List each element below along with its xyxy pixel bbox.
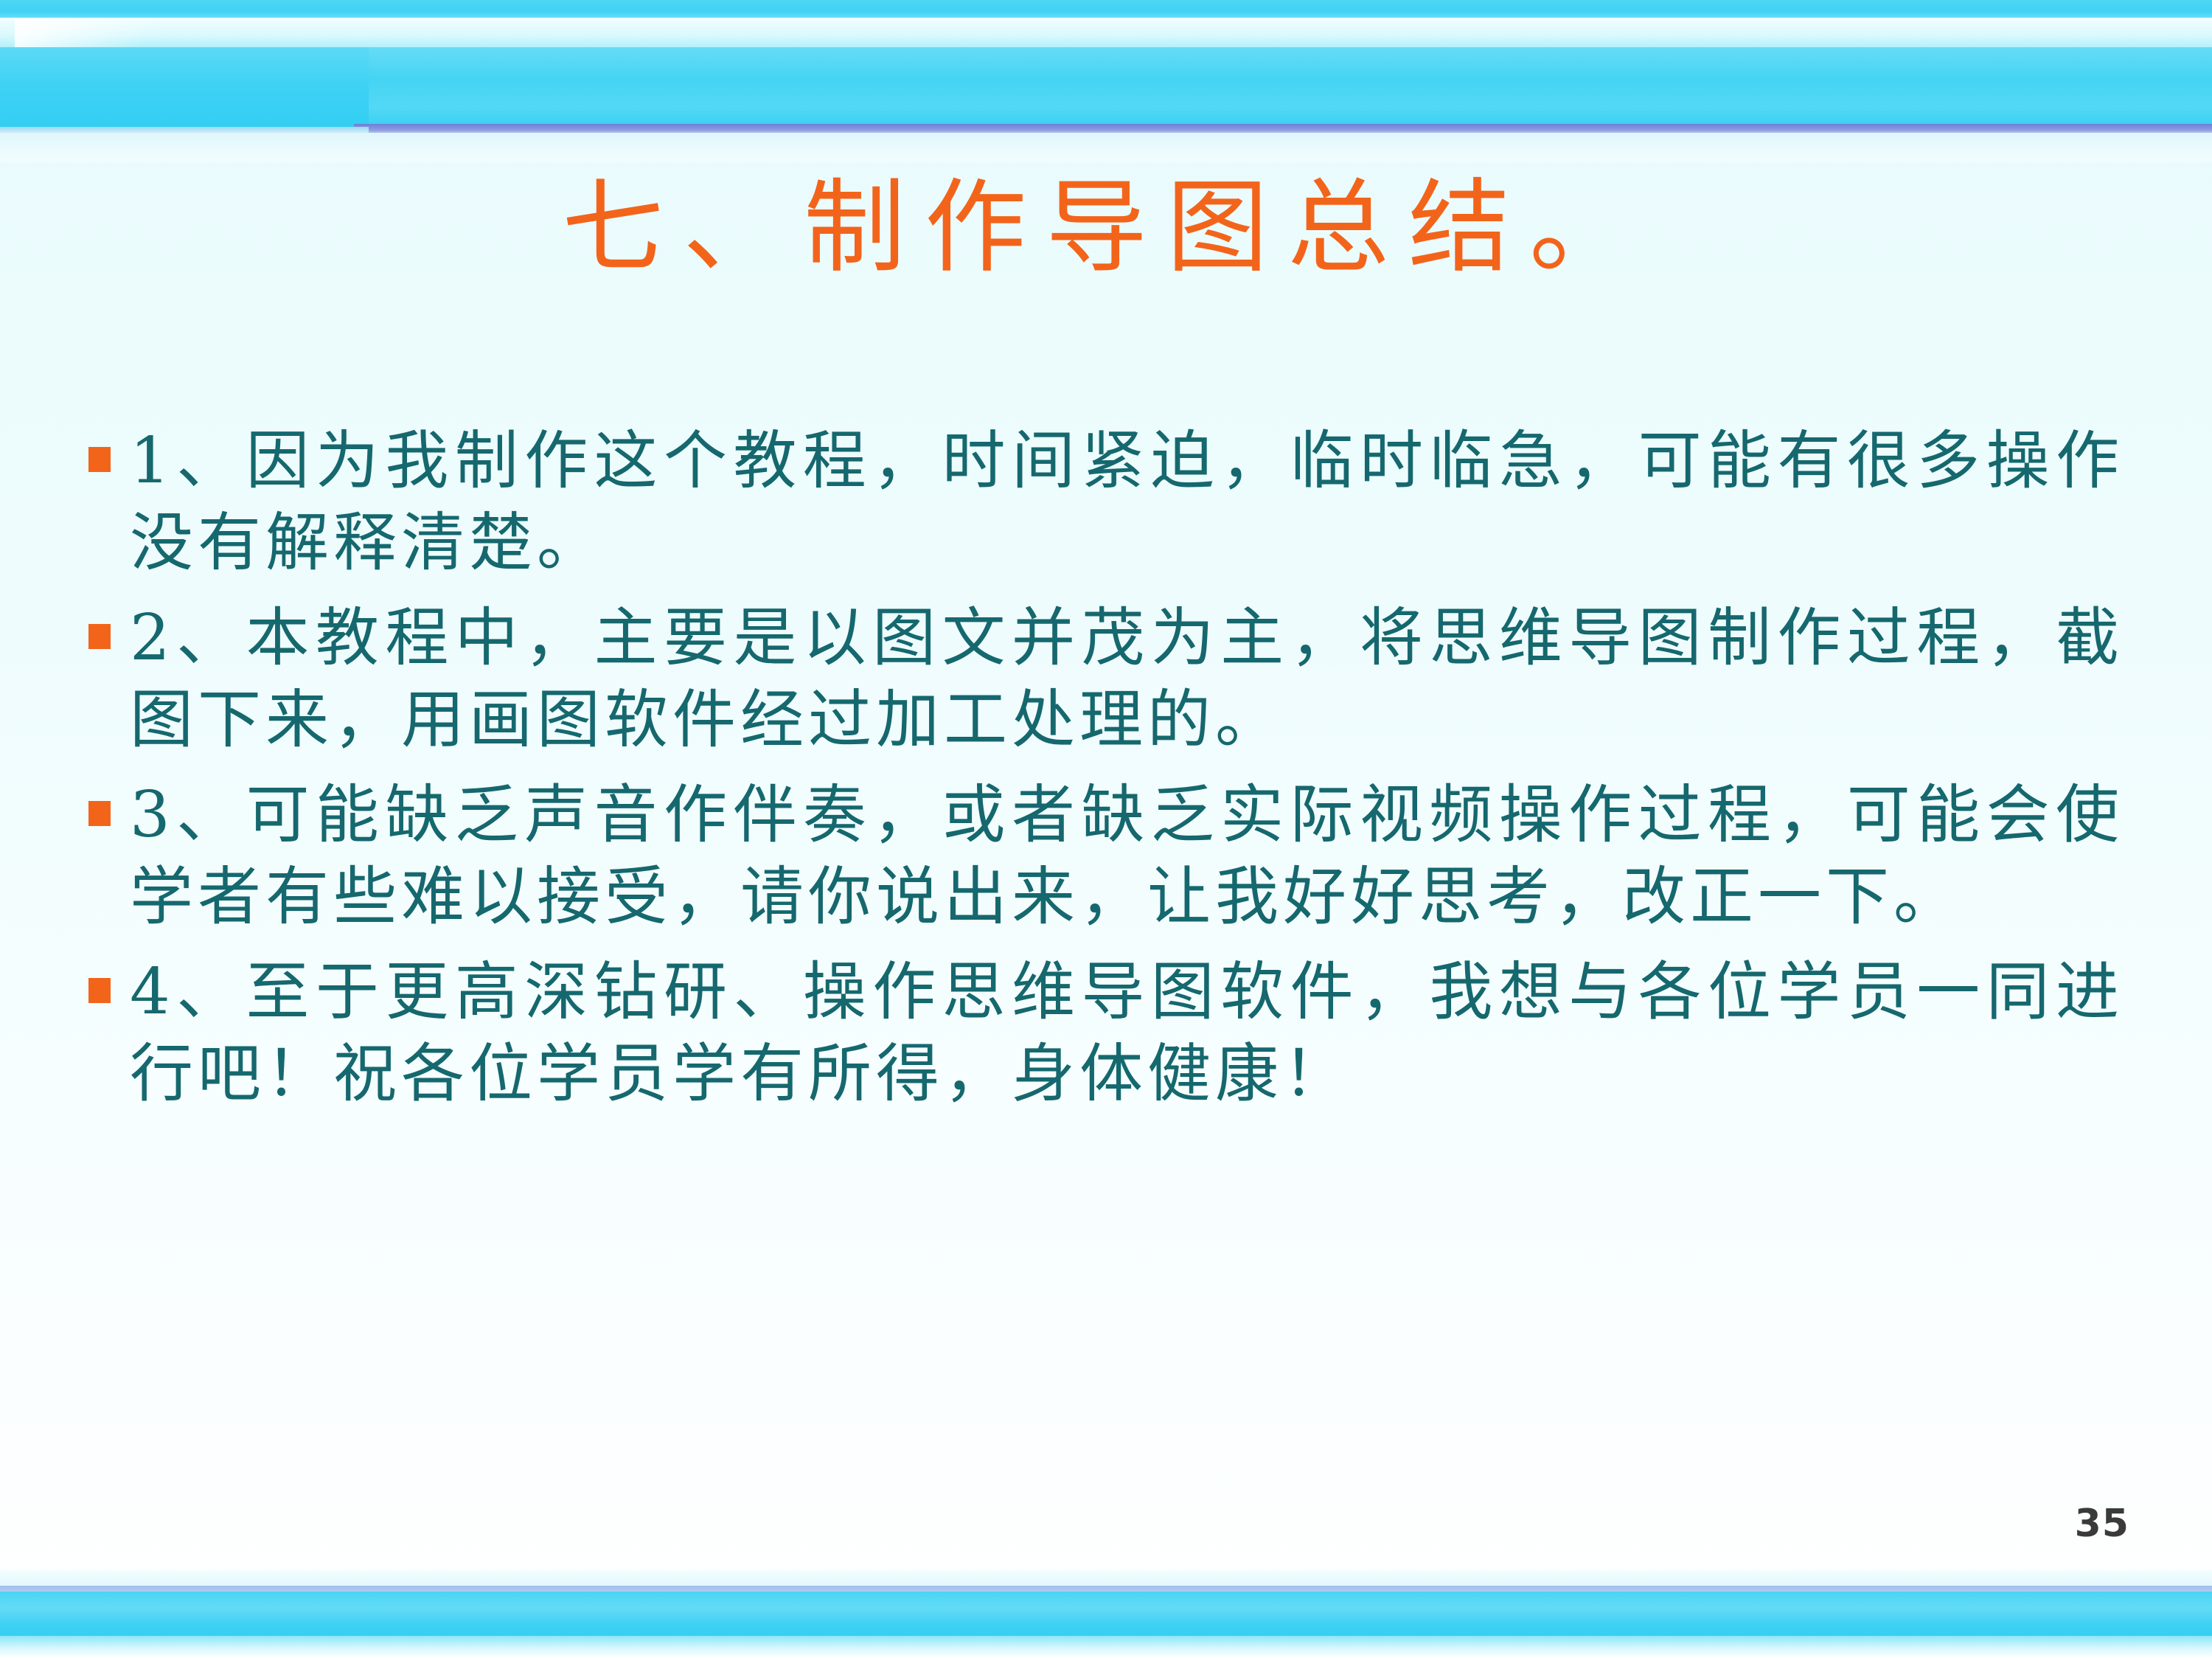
- square-bullet-icon: [88, 978, 111, 1003]
- top-banner-strip: [0, 0, 2212, 19]
- square-bullet-icon: [88, 624, 111, 649]
- bottom-banner-body: [0, 1592, 2212, 1639]
- page-number: 35: [2075, 1502, 2129, 1546]
- bullet-text-2: 2、本教程中，主要是以图文并茂为主，将思维导图制作过程，截图下来，用画图软件经过…: [130, 597, 2124, 761]
- slide-title: 七、制作导图总结。: [0, 168, 2212, 288]
- list-item: 1、因为我制作这个教程，时间紧迫，临时临急，可能有很多操作没有解释清楚。: [88, 420, 2124, 584]
- bullet-text-4: 4、至于更高深钻研、操作思维导图软件，我想与各位学员一同进行吧！祝各位学员学有所…: [130, 951, 2124, 1115]
- square-bullet-icon: [88, 801, 111, 826]
- bottom-banner-lower: [0, 1636, 2212, 1658]
- top-banner-highlight-band: [0, 18, 2212, 50]
- list-item: 2、本教程中，主要是以图文并茂为主，将思维导图制作过程，截图下来，用画图软件经过…: [88, 597, 2124, 761]
- top-banner-fade: [0, 133, 2212, 162]
- list-item: 4、至于更高深钻研、操作思维导图软件，我想与各位学员一同进行吧！祝各位学员学有所…: [88, 951, 2124, 1115]
- bullet-text-1: 1、因为我制作这个教程，时间紧迫，临时临急，可能有很多操作没有解释清楚。: [130, 420, 2124, 584]
- square-bullet-icon: [88, 447, 111, 472]
- top-banner-left-block: [0, 47, 369, 130]
- top-banner: [0, 0, 2212, 148]
- bottom-banner: [0, 1569, 2212, 1658]
- list-item: 3、可能缺乏声音作伴奏，或者缺乏实际视频操作过程，可能会使学者有些难以接受，请你…: [88, 774, 2124, 938]
- bullet-list: 1、因为我制作这个教程，时间紧迫，临时临急，可能有很多操作没有解释清楚。 2、本…: [88, 420, 2124, 1128]
- bullet-text-3: 3、可能缺乏声音作伴奏，或者缺乏实际视频操作过程，可能会使学者有些难以接受，请你…: [130, 774, 2124, 938]
- presentation-slide: 七、制作导图总结。 1、因为我制作这个教程，时间紧迫，临时临急，可能有很多操作没…: [0, 0, 2212, 1658]
- top-banner-gloss: [15, 19, 177, 49]
